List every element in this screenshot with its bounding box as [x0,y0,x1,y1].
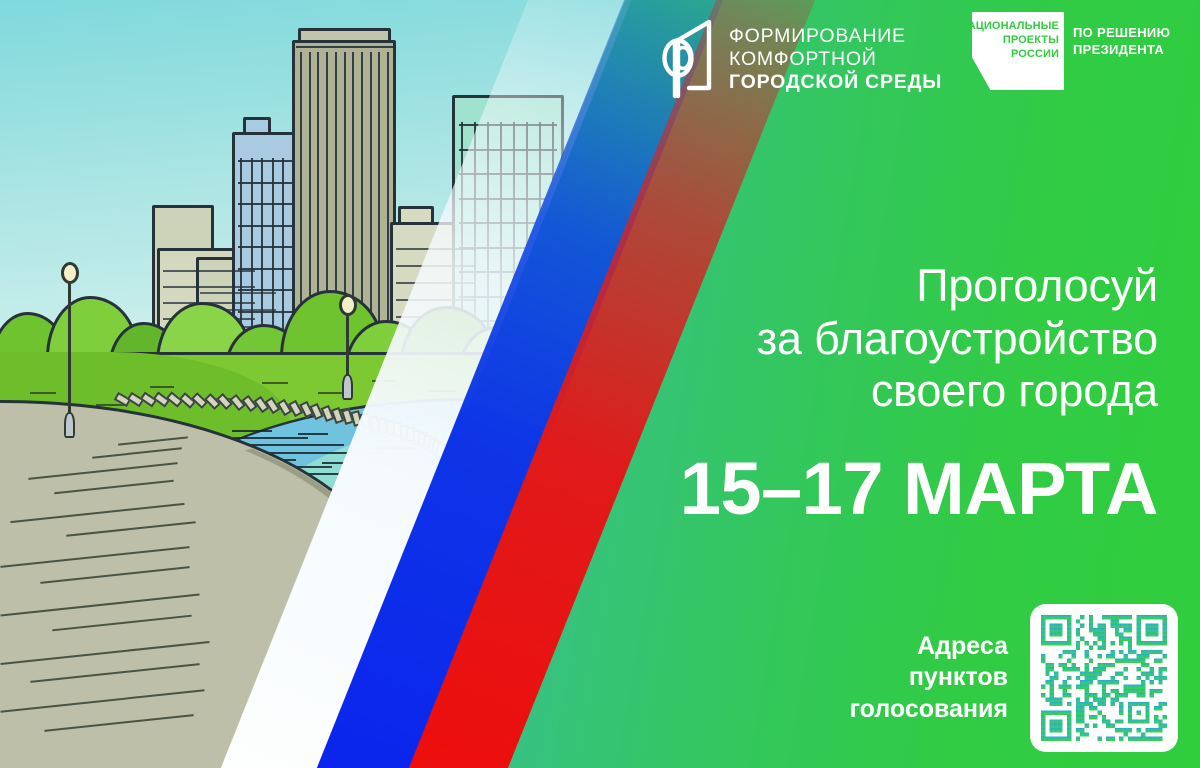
lamp-base-1 [64,412,75,438]
national-projects-logo: НАЦИОНАЛЬНЫЕ ПРОЕКТЫ РОССИИ ПО РЕШЕНИЮ П… [972,12,1170,90]
np-line-2: ПРОЕКТЫ [960,33,1059,47]
water-ripple [369,519,405,521]
qr-label: Адреса пунктов голосования [850,631,1008,726]
lamp-pole-1 [68,283,71,428]
fkgs-line-2: КОМФОРТНОЙ [729,48,942,71]
water-ripple [298,433,328,435]
water-ripple [232,430,272,432]
water-ripple [370,447,416,449]
fkgs-house-mark-icon [659,18,715,100]
fkgs-line-3: ГОРОДСКОЙ СРЕДЫ [729,71,942,94]
national-projects-text: НАЦИОНАЛЬНЫЕ ПРОЕКТЫ РОССИИ [960,19,1059,61]
water-ripple [322,462,384,464]
lamp-head-1 [61,262,79,284]
grass-tuft [150,386,174,388]
lamp-base-2 [342,374,353,400]
fkgs-logo-text: ФОРМИРОВАНИЕ КОМФОРТНОЙ ГОРОДСКОЙ СРЕДЫ [729,25,942,94]
np-line-1: НАЦИОНАЛЬНЫЕ [960,19,1059,33]
lamp-head-2 [339,294,357,316]
grass-tuft [428,390,456,392]
qr-label-line-2: пунктов [850,662,1008,694]
president-line-1: ПО РЕШЕНИЮ [1073,24,1170,41]
fkgs-line-1: ФОРМИРОВАНИЕ [729,25,942,48]
grass-tuft [30,392,56,394]
qr-label-line-1: Адреса [850,631,1008,663]
national-projects-flag-shape: НАЦИОНАЛЬНЫЕ ПРОЕКТЫ РОССИИ [972,12,1064,90]
qr-code-icon[interactable] [1030,604,1178,752]
voting-dates: 15–17 МАРТА [680,452,1158,526]
headline: Проголосуй за благоустройство своего гор… [757,260,1158,418]
headline-line-1: Проголосуй [757,260,1158,313]
np-line-3: РОССИИ [960,47,1059,61]
qr-label-line-3: голосования [850,694,1008,726]
water-ripple [346,491,440,493]
headline-line-2: за благоустройство [757,313,1158,366]
grass-tuft [372,380,396,382]
poster-canvas: ФОРМИРОВАНИЕ КОМФОРТНОЙ ГОРОДСКОЙ СРЕДЫ … [0,0,1200,768]
fkgs-logo: ФОРМИРОВАНИЕ КОМФОРТНОЙ ГОРОДСКОЙ СРЕДЫ [659,18,942,100]
president-line-2: ПРЕЗИДЕНТА [1073,41,1170,58]
qr-section: Адреса пунктов голосования [850,604,1178,752]
grass-tuft [262,382,288,384]
president-decision-text: ПО РЕШЕНИЮ ПРЕЗИДЕНТА [1073,24,1170,58]
headline-line-3: своего города [757,365,1158,418]
water-ripple [231,437,308,439]
